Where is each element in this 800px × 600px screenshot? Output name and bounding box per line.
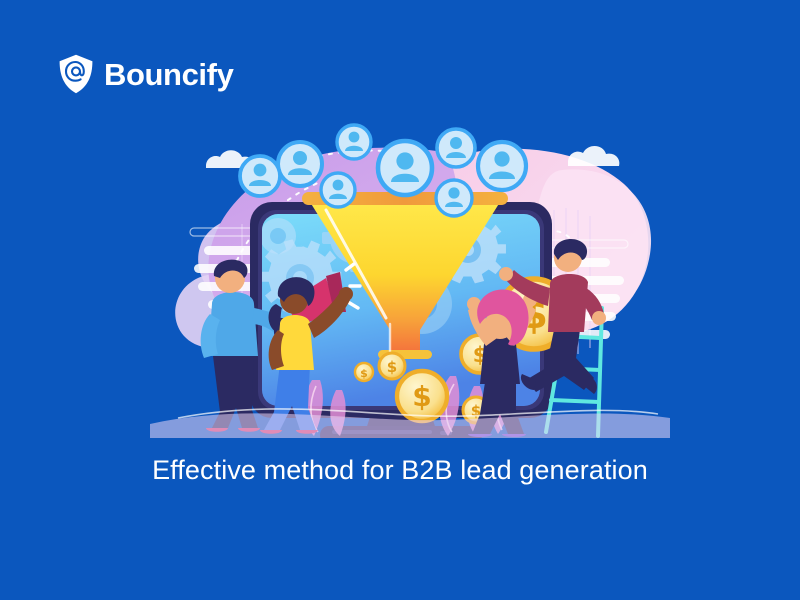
illustration: $ $ $ $ $ [150, 118, 670, 438]
brand-logo[interactable]: Bouncify [58, 54, 233, 94]
user-avatar [337, 125, 371, 159]
user-avatar [478, 142, 526, 190]
user-avatar [378, 141, 432, 195]
gear-icon-5 [260, 218, 296, 254]
caption-text: Effective method for B2B lead generation [0, 455, 800, 486]
cloud-icon-right [568, 146, 619, 166]
user-avatar [437, 129, 475, 167]
shield-at-icon [58, 54, 94, 94]
user-avatar [278, 142, 322, 186]
user-avatar [436, 180, 472, 216]
user-avatar [321, 173, 355, 207]
svg-text:$: $ [412, 380, 431, 413]
svg-text:$: $ [387, 358, 397, 376]
coin: $ [355, 363, 373, 381]
brand-name: Bouncify [104, 59, 233, 90]
user-avatar [240, 156, 280, 196]
svg-text:$: $ [360, 367, 368, 380]
coin: $ [397, 371, 447, 421]
promo-card: Bouncify [0, 0, 800, 600]
coin: $ [379, 353, 405, 379]
